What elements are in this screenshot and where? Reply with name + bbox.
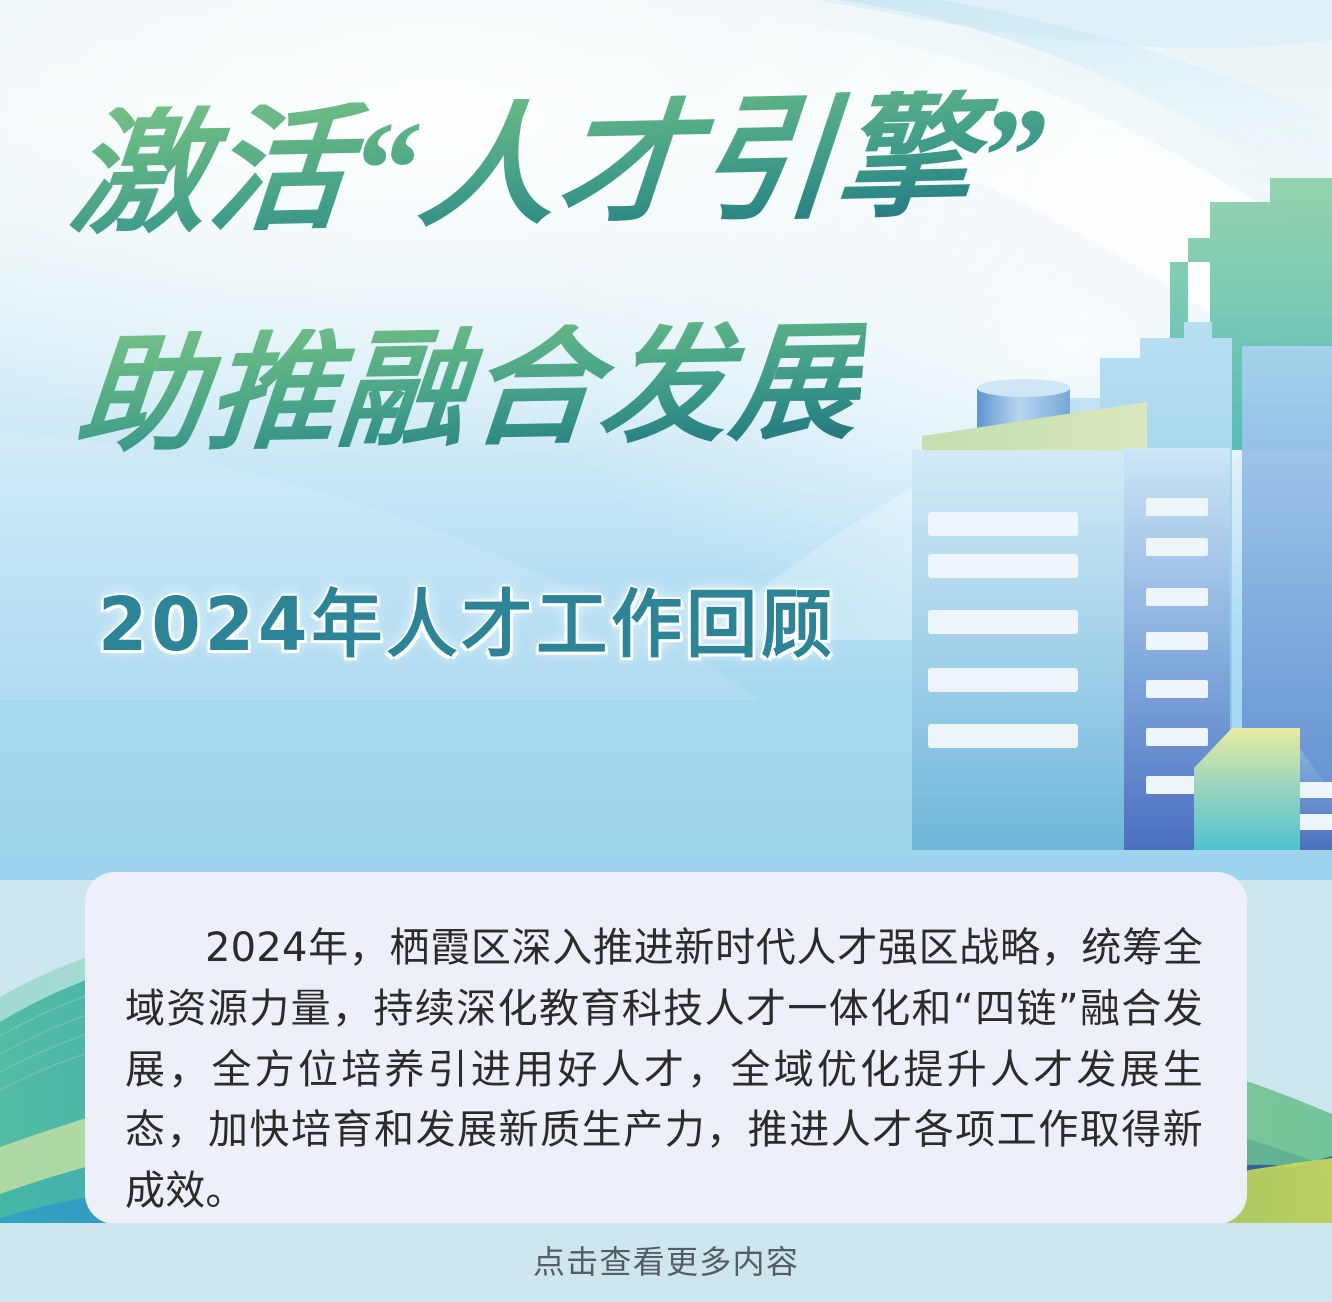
- view-more-link[interactable]: 点击查看更多内容: [0, 1237, 1332, 1283]
- poster-root: 激活“人才引擎” 助推融合发展 2024年人才工作回顾 2024年，栖霞区深入推…: [0, 0, 1332, 1302]
- summary-card: 2024年，栖霞区深入推进新时代人才强区战略，统筹全域资源力量，持续深化教育科技…: [85, 872, 1247, 1224]
- poster-subtitle: 2024年人才工作回顾: [98, 565, 836, 672]
- title-line-2: 助推融合发展: [72, 319, 868, 461]
- title-line-1: 激活“人才引擎”: [65, 88, 1052, 244]
- city-buildings-icon: [912, 150, 1332, 850]
- summary-body-text: 2024年，栖霞区深入推进新时代人才强区战略，统筹全域资源力量，持续深化教育科技…: [125, 918, 1203, 1222]
- footer-bar: 点击查看更多内容: [0, 1223, 1332, 1302]
